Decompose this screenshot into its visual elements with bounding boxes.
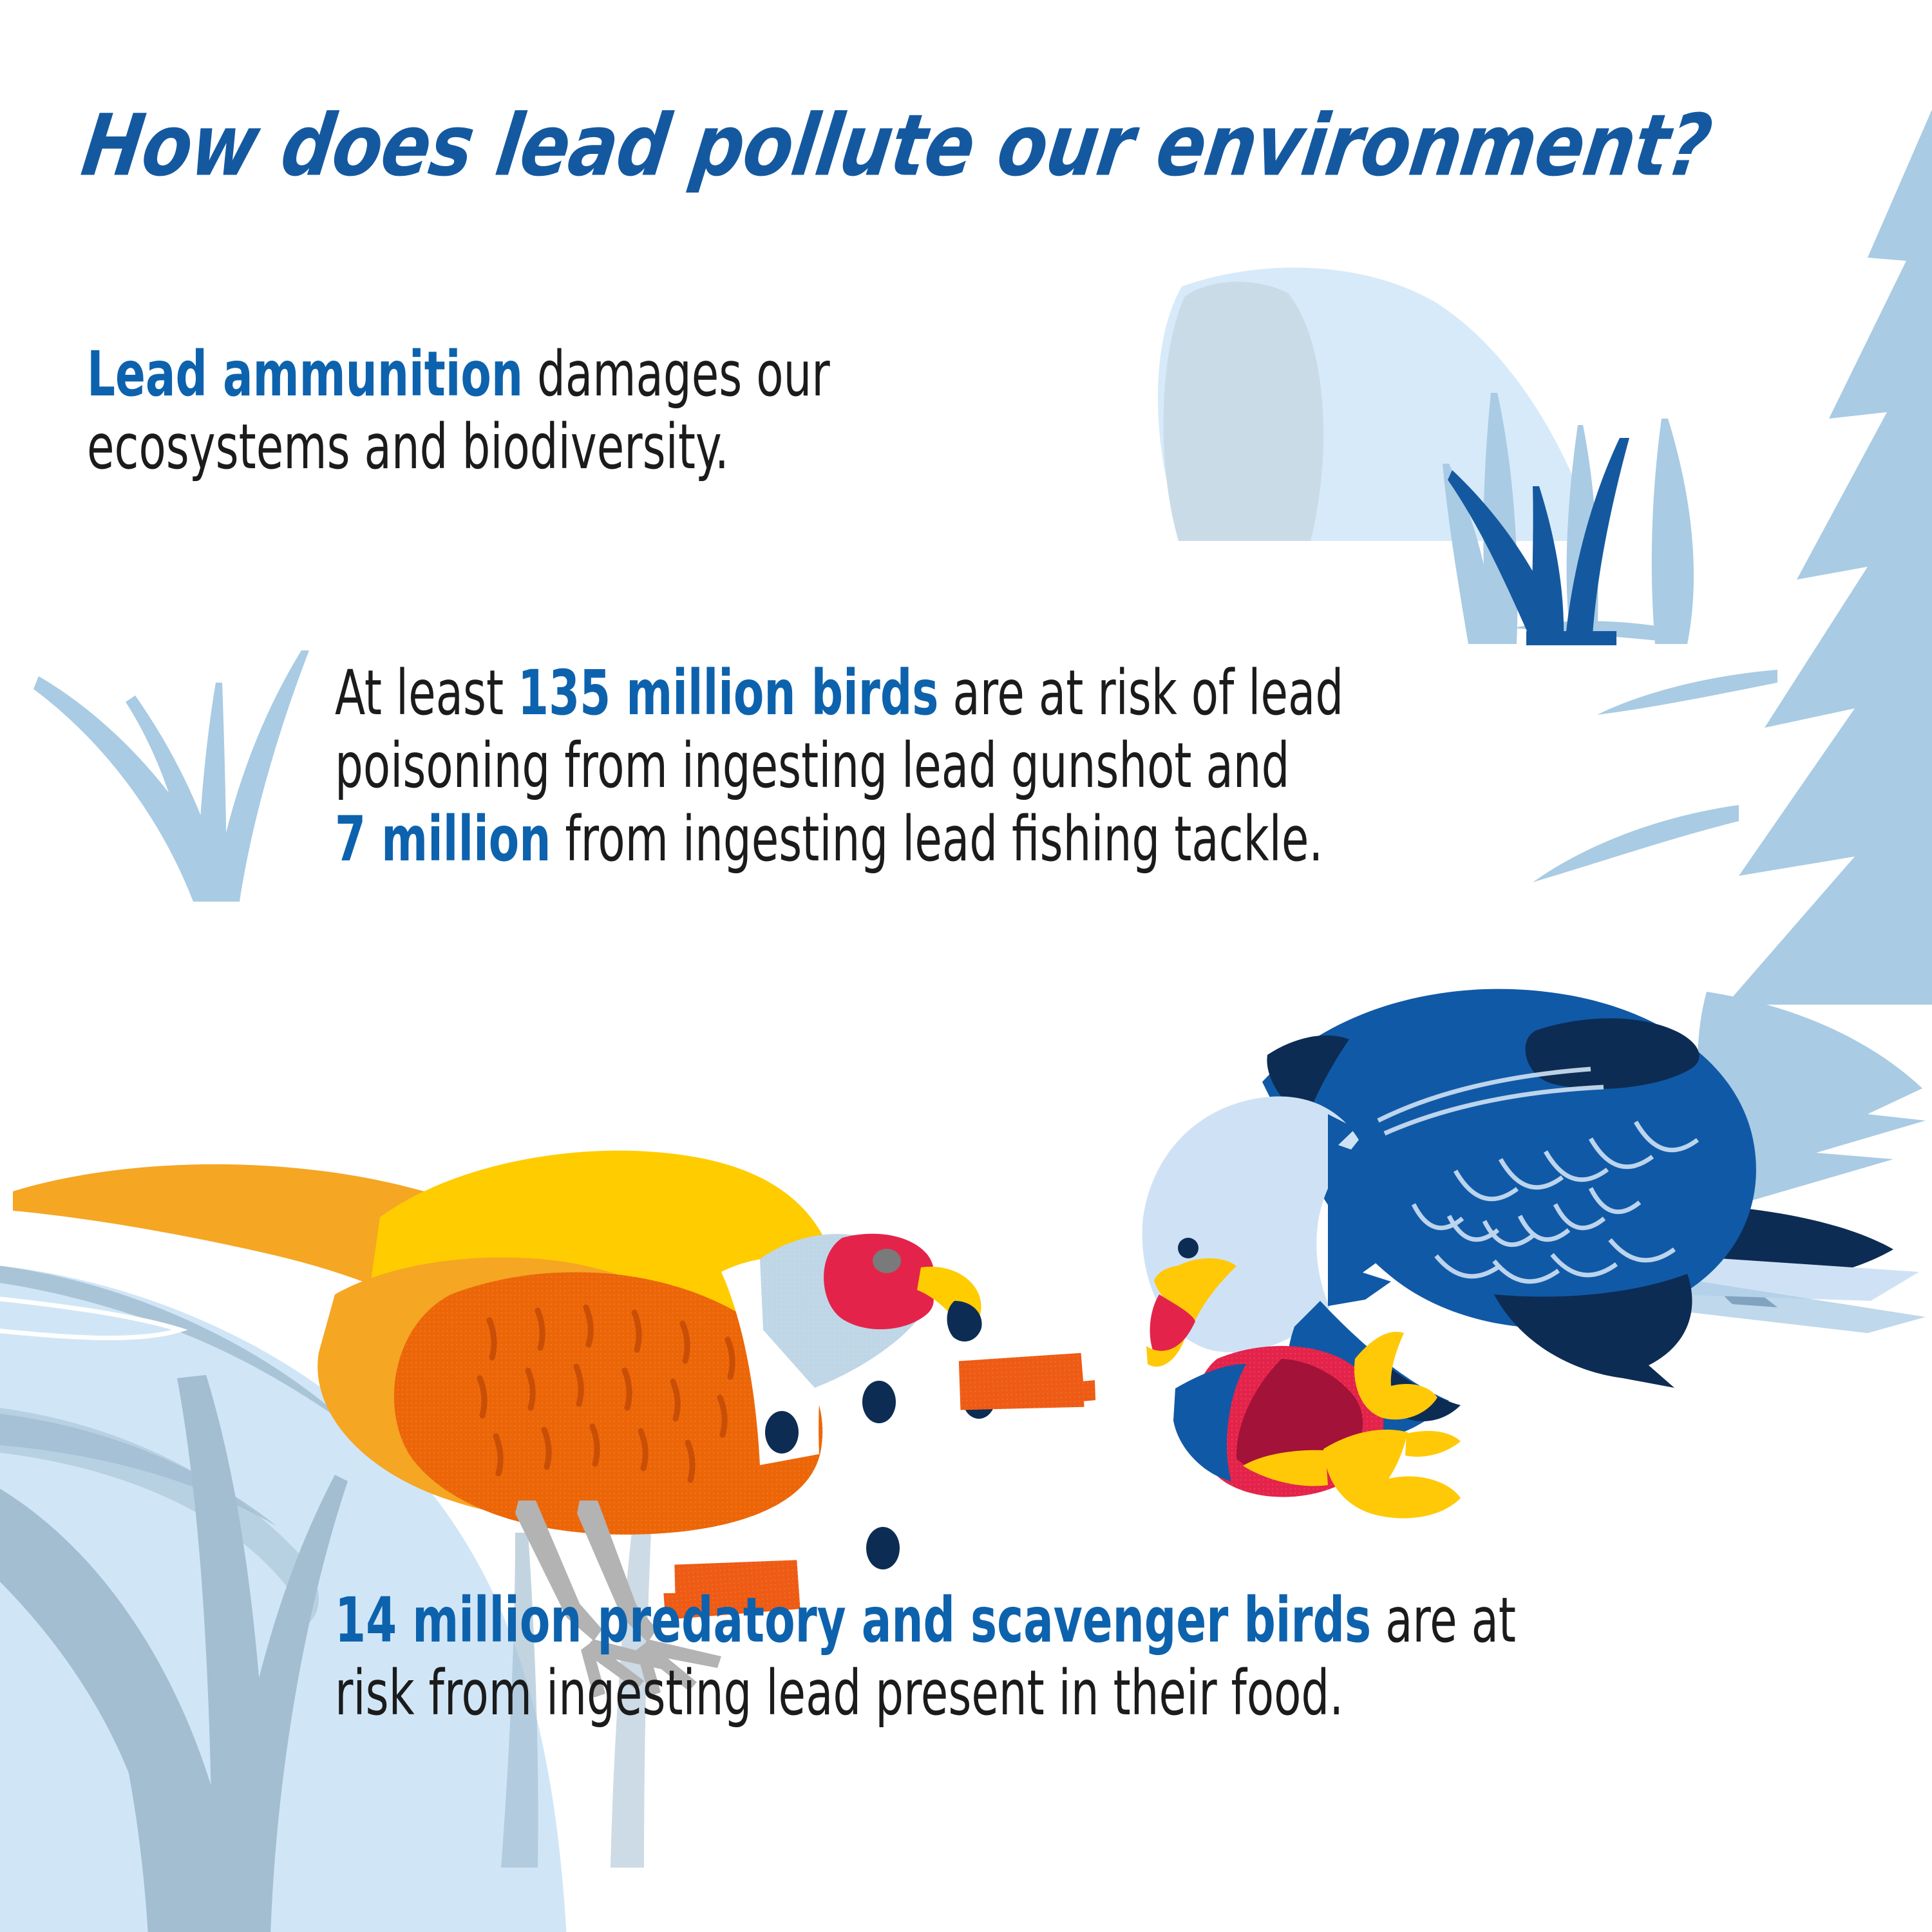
- middle-text-at-least: At least: [335, 657, 518, 729]
- infographic-canvas: How does lead pollute our environment? L…: [0, 0, 1932, 1932]
- intro-text-rest: damages our: [523, 338, 830, 410]
- eagle-eye: [1178, 1238, 1198, 1258]
- intro-emphasis-lead-ammunition: Lead ammunition: [87, 338, 523, 410]
- reeds-middle-left: [33, 650, 309, 902]
- intro-line-2: ecosystems and biodiversity.: [87, 411, 830, 484]
- paragraph-intro: Lead ammunition damages our ecosystems a…: [87, 338, 830, 484]
- middle-text-fishing-tackle: from ingesting lead fishing tackle.: [551, 803, 1323, 875]
- pheasant-eye: [873, 1249, 901, 1273]
- page-title: How does lead pollute our environment?: [76, 97, 1716, 195]
- middle-line-2: poisoning from ingesting lead gunshot an…: [335, 730, 1343, 802]
- paragraph-bottom: 14 million predatory and scavenger birds…: [335, 1584, 1516, 1730]
- bottom-text-are-at: are at: [1371, 1584, 1516, 1656]
- middle-text-are-at-risk: are at risk of lead: [938, 657, 1343, 729]
- intro-line-1: Lead ammunition damages our: [87, 338, 830, 411]
- bottom-line-1: 14 million predatory and scavenger birds…: [335, 1584, 1516, 1657]
- bottom-emphasis-14-million-birds: 14 million predatory and scavenger birds: [335, 1584, 1371, 1656]
- middle-emphasis-135-million-birds: 135 million birds: [518, 657, 938, 729]
- fallen-log-icon: [1158, 267, 1597, 541]
- middle-emphasis-7-million: 7 million: [335, 803, 551, 875]
- paragraph-middle: At least 135 million birds are at risk o…: [335, 657, 1343, 876]
- eagle-illustration: [1142, 989, 1926, 1519]
- shotgun-shell-icon: [959, 1352, 1096, 1411]
- middle-line-1: At least 135 million birds are at risk o…: [335, 657, 1343, 730]
- middle-line-3: 7 million from ingesting lead fishing ta…: [335, 803, 1343, 876]
- bottom-line-2: risk from ingesting lead present in thei…: [335, 1657, 1516, 1730]
